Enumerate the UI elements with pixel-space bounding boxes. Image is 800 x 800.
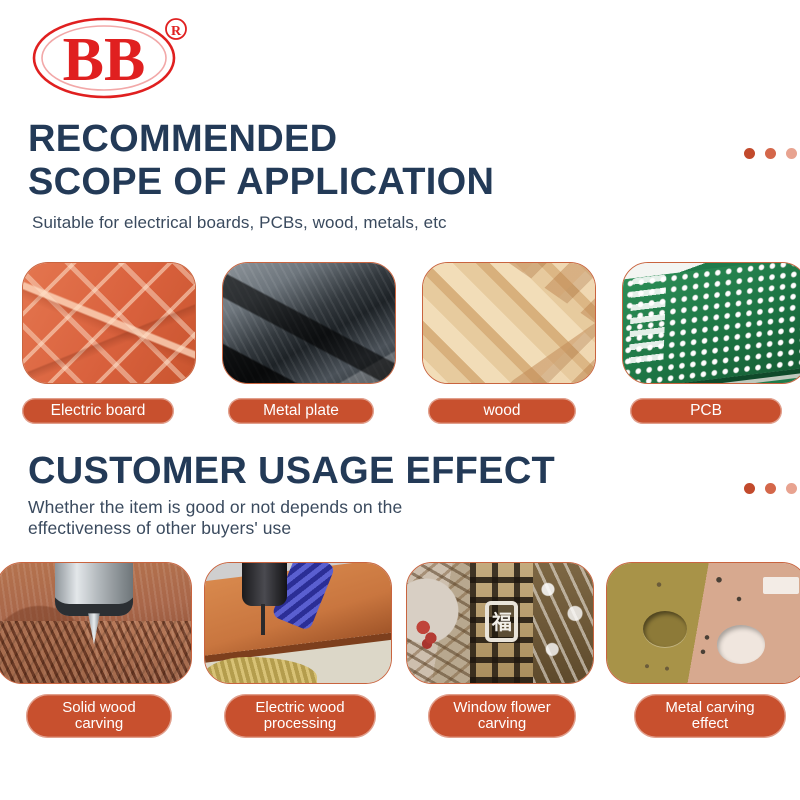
label-line-1: Solid wood <box>62 699 135 716</box>
pcb-image <box>623 263 800 383</box>
label-wood: wood <box>428 398 576 424</box>
label-metal-plate: Metal plate <box>228 398 374 424</box>
card-metal-carving-effect <box>606 562 800 684</box>
card-pcb <box>622 262 800 384</box>
section-1-heading: RECOMMENDED SCOPE OF APPLICATION Suitabl… <box>28 118 494 233</box>
label-solid-wood-carving: Solid wood carving <box>26 694 172 738</box>
lattice-panel-left <box>407 563 470 683</box>
drilled-dots <box>607 563 800 683</box>
electric-board-image <box>23 263 195 383</box>
drill-bit-shape <box>261 604 266 635</box>
decorative-dots-1 <box>744 148 797 159</box>
fu-medallion: 福 <box>485 601 518 642</box>
label-line-1: Metal carving <box>665 699 754 716</box>
window-flower-carving-image: 福 <box>407 563 593 683</box>
solid-wood-carving-image <box>0 563 191 683</box>
card-window-flower-carving: 福 <box>406 562 594 684</box>
lattice-panel-center: 福 <box>470 563 533 683</box>
logo-text: BB <box>63 26 146 94</box>
brand-logo: BB R <box>26 12 206 104</box>
sawdust-shape <box>204 657 317 684</box>
registered-trademark-icon: R <box>171 24 182 39</box>
metal-plate-image <box>223 263 395 383</box>
dot-icon <box>744 148 755 159</box>
label-line-2: effect <box>692 715 728 732</box>
router-bit-tip <box>88 613 100 644</box>
dot-icon <box>786 483 797 494</box>
painted-flower-shape <box>416 611 440 652</box>
label-electric-wood-processing: Electric wood processing <box>224 694 376 738</box>
application-card-row: Electric board Metal plate wood PCB <box>0 262 800 422</box>
electric-wood-processing-image <box>205 563 391 683</box>
card-metal-plate <box>222 262 396 384</box>
section-1-title-line-2: SCOPE OF APPLICATION <box>28 161 494 204</box>
label-line-2: processing <box>264 715 337 732</box>
label-electric-board: Electric board <box>22 398 174 424</box>
dot-icon <box>765 148 776 159</box>
label-line-1: Electric wood <box>255 699 344 716</box>
card-electric-wood-processing <box>204 562 392 684</box>
section-2-heading: CUSTOMER USAGE EFFECT Whether the item i… <box>28 450 555 540</box>
dot-icon <box>765 483 776 494</box>
usage-effect-card-row: Solid wood carving Electric wood process… <box>0 562 800 722</box>
section-1-title-line-1: RECOMMENDED <box>28 118 494 161</box>
lattice-panel-right <box>533 563 593 683</box>
label-metal-carving-effect: Metal carving effect <box>634 694 786 738</box>
card-wood <box>422 262 596 384</box>
pcb-pad-strip <box>629 275 667 369</box>
card-electric-board <box>22 262 196 384</box>
metal-carving-effect-image <box>607 563 800 683</box>
section-2-subtitle-line-2: effectiveness of other buyers' use <box>28 518 555 540</box>
dot-icon <box>786 148 797 159</box>
label-line-1: Window flower <box>453 699 551 716</box>
label-window-flower-carving: Window flower carving <box>428 694 576 738</box>
section-1-subtitle: Suitable for electrical boards, PCBs, wo… <box>32 212 494 233</box>
section-2-title: CUSTOMER USAGE EFFECT <box>28 450 555 493</box>
label-line-2: carving <box>478 715 526 732</box>
dot-icon <box>744 483 755 494</box>
section-2-subtitle-line-1: Whether the item is good or not depends … <box>28 497 555 519</box>
decorative-dots-2 <box>744 483 797 494</box>
card-solid-wood-carving <box>0 562 192 684</box>
wood-image <box>423 263 595 383</box>
label-pcb: PCB <box>630 398 782 424</box>
bb-logo-icon: BB R <box>26 12 206 104</box>
spindle-shape <box>242 562 287 606</box>
label-line-2: carving <box>75 715 123 732</box>
